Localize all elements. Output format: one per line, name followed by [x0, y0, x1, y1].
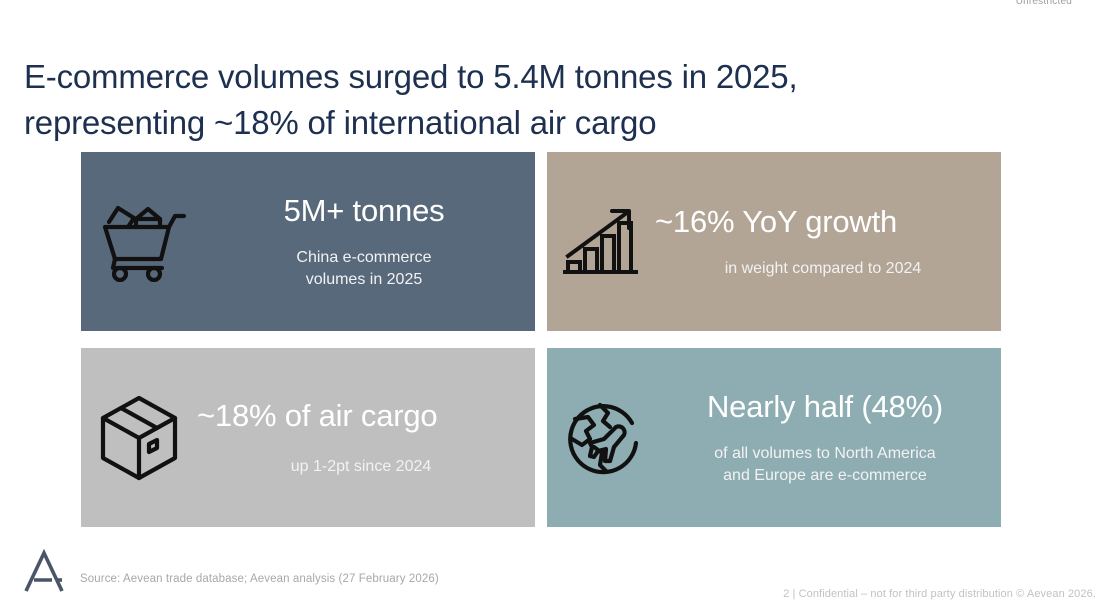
stat-subtext-line-1: China e-commerce [296, 247, 431, 269]
page-title: E-commerce volumes surged to 5.4M tonnes… [24, 54, 1024, 146]
stat-subtext: China e-commerce volumes in 2025 [296, 247, 431, 291]
stat-card-yoy-growth: ~16% YoY growth in weight compared to 20… [547, 152, 1001, 331]
stat-subtext-line-2: volumes in 2025 [296, 269, 431, 291]
bar-chart-growth-icon [547, 204, 655, 280]
stat-subtext: in weight compared to 2024 [655, 258, 991, 280]
stat-card-china-volumes: 5M+ tonnes China e-commerce volumes in 2… [81, 152, 535, 331]
stat-subtext-line-1: up 1-2pt since 2024 [197, 456, 525, 478]
stat-headline: 5M+ tonnes [284, 193, 445, 229]
stat-card-grid: 5M+ tonnes China e-commerce volumes in 2… [81, 152, 1001, 527]
stat-card-share-of-air-cargo: ~18% of air cargo up 1-2pt since 2024 [81, 348, 535, 527]
classification-marking: Unrestricted [1016, 0, 1072, 8]
stat-card-text: ~16% YoY growth in weight compared to 20… [655, 204, 1001, 280]
stat-subtext: of all volumes to North America and Euro… [714, 443, 935, 487]
stat-subtext: up 1-2pt since 2024 [197, 456, 525, 478]
stat-headline: ~16% YoY growth [655, 204, 897, 240]
confidentiality-footer: 2 | Confidential – not for third party d… [783, 588, 1096, 600]
stat-subtext-line-1: in weight compared to 2024 [655, 258, 991, 280]
globe-airplane-icon [547, 395, 659, 481]
stat-card-text: ~18% of air cargo up 1-2pt since 2024 [197, 398, 535, 478]
page-title-line-2: representing ~18% of international air c… [24, 100, 1024, 146]
stat-headline: Nearly half (48%) [707, 389, 943, 425]
parcel-box-icon [81, 394, 197, 482]
shopping-cart-icon [81, 202, 203, 282]
aevean-a-logo [22, 549, 70, 595]
stat-card-na-europe-share: Nearly half (48%) of all volumes to Nort… [547, 348, 1001, 527]
page-title-line-1: E-commerce volumes surged to 5.4M tonnes… [24, 54, 1024, 100]
stat-subtext-line-2: and Europe are e-commerce [714, 465, 935, 487]
source-note: Source: Aevean trade database; Aevean an… [80, 573, 439, 585]
stat-card-text: 5M+ tonnes China e-commerce volumes in 2… [203, 193, 535, 291]
stat-card-text: Nearly half (48%) of all volumes to Nort… [659, 389, 1001, 487]
stat-subtext-line-1: of all volumes to North America [714, 443, 935, 465]
stat-headline: ~18% of air cargo [197, 398, 437, 434]
